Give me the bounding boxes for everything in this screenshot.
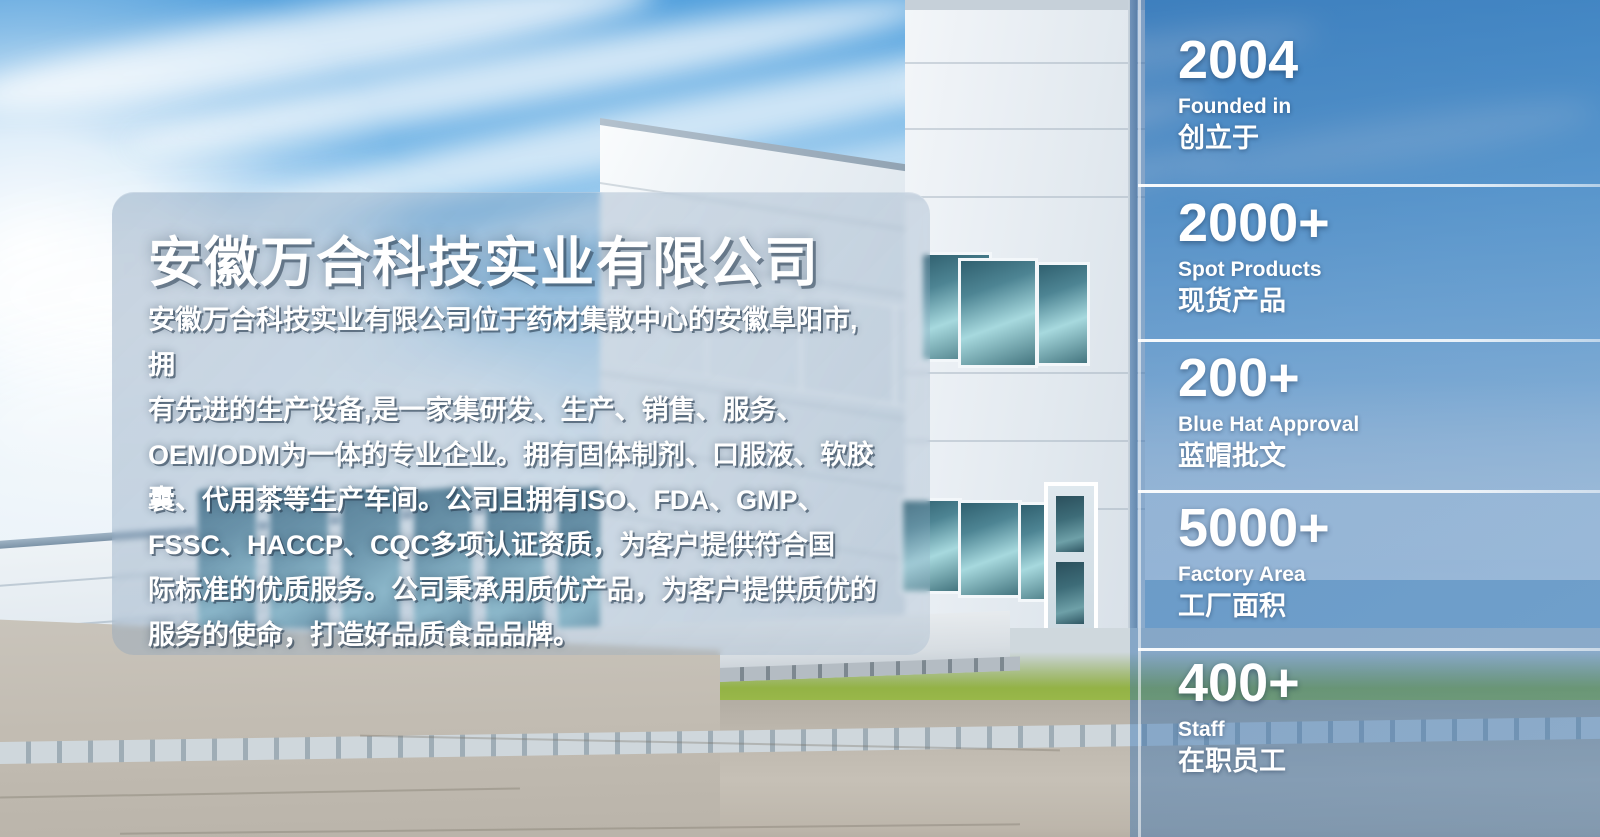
stat-value: 5000+ <box>1178 500 1600 557</box>
stat-label-en: Founded in <box>1178 93 1600 120</box>
company-profile-banner: 安徽万合科技实业有限公司 安徽万合科技实业有限公司位于药材集散中心的安徽阜阳市,… <box>0 0 1600 837</box>
company-name-title: 安徽万合科技实业有限公司 <box>148 218 908 297</box>
description-line: 囊、代用茶等生产车间。公司且拥有ISO、FDA、GMP、 <box>148 478 883 523</box>
company-description: 安徽万合科技实业有限公司位于药材集散中心的安徽阜阳市,拥 有先进的生产设备,是一… <box>148 298 883 658</box>
stat-label-en: Spot Products <box>1178 256 1600 283</box>
stat-label-cn: 工厂面积 <box>1178 590 1600 624</box>
stat-item-staff: 400+ Staff 在职员工 <box>1138 655 1600 779</box>
stat-divider <box>1138 184 1600 187</box>
wall-seam <box>905 62 1145 64</box>
stat-item-founded: 2004 Founded in 创立于 <box>1138 32 1600 156</box>
stat-divider <box>1138 648 1600 651</box>
stat-label-cn: 现货产品 <box>1178 285 1600 319</box>
door-glass <box>1056 562 1084 624</box>
stat-label-en: Blue Hat Approval <box>1178 411 1600 438</box>
stat-divider <box>1138 490 1600 493</box>
stat-label-cn: 创立于 <box>1178 122 1600 156</box>
wall-seam <box>905 196 1145 198</box>
description-line: 服务的使命，打造好品质食品品牌。 <box>148 613 883 658</box>
stat-label-en: Factory Area <box>1178 561 1600 588</box>
stat-value: 200+ <box>1178 350 1600 407</box>
description-line: 安徽万合科技实业有限公司位于药材集散中心的安徽阜阳市,拥 <box>148 298 883 388</box>
stat-value: 400+ <box>1178 655 1600 712</box>
stat-item-blue-hat-approval: 200+ Blue Hat Approval 蓝帽批文 <box>1138 350 1600 474</box>
stat-label-en: Staff <box>1178 716 1600 743</box>
stat-value: 2000+ <box>1178 195 1600 252</box>
stat-label-cn: 在职员工 <box>1178 745 1600 779</box>
ground-window <box>958 500 1022 598</box>
stat-label-cn: 蓝帽批文 <box>1178 440 1600 474</box>
stat-item-spot-products: 2000+ Spot Products 现货产品 <box>1138 195 1600 319</box>
wall-seam <box>905 128 1145 130</box>
entrance-door <box>1044 482 1098 642</box>
upper-window <box>958 258 1038 368</box>
main-building-roofline <box>905 0 1145 10</box>
upper-window <box>1036 262 1090 366</box>
wall-seam <box>905 372 1145 374</box>
description-line: OEM/ODM为一体的专业企业。拥有固体制剂、口服液、软胶 <box>148 433 883 478</box>
description-line: 际标准的优质服务。公司秉承用质优产品，为客户提供质优的 <box>148 568 883 613</box>
description-line: FSSC、HACCP、CQC多项认证资质，为客户提供符合国 <box>148 523 883 568</box>
stat-item-factory-area: 5000+ Factory Area 工厂面积 <box>1138 500 1600 624</box>
description-line: 有先进的生产设备,是一家集研发、生产、销售、服务、 <box>148 388 883 433</box>
stat-value: 2004 <box>1178 32 1600 89</box>
wall-seam <box>905 440 1145 442</box>
door-glass <box>1056 496 1084 552</box>
stat-divider <box>1138 339 1600 342</box>
